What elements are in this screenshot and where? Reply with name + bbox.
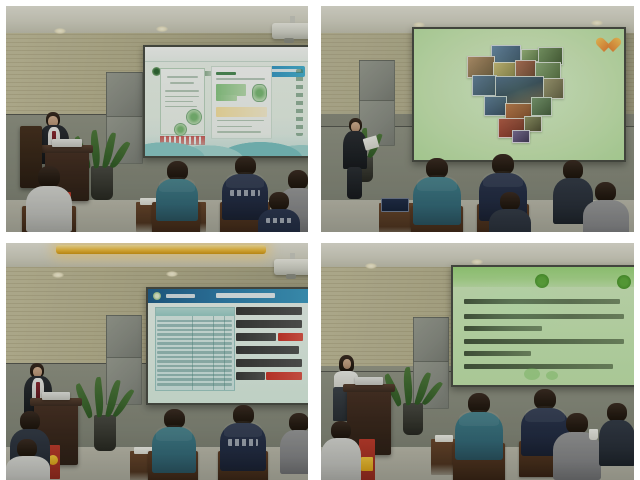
hoodie-hood: [156, 425, 193, 441]
text-line: [236, 307, 302, 315]
slide-vertical-text: [296, 69, 303, 137]
table-row: [157, 378, 232, 381]
university-crest-icon: [153, 292, 161, 300]
audience-member: [6, 439, 50, 480]
audience-member: [152, 409, 196, 471]
presenter-face: [343, 359, 351, 369]
hoodie-hood: [417, 175, 457, 191]
collage-photo: [543, 78, 565, 99]
collage-photo: [484, 96, 507, 115]
laptop: [52, 139, 82, 147]
projection-screen: [451, 265, 634, 387]
audience-body: [6, 456, 50, 480]
slide-certificate: [145, 47, 308, 156]
table-row: [157, 320, 232, 323]
plant-pot: [94, 415, 116, 451]
quote-badge-icon: [535, 274, 549, 288]
text-line: [236, 372, 265, 380]
wall-grey-panel: [106, 72, 143, 118]
audience-head: [288, 170, 308, 190]
certificate-right-card: [211, 66, 272, 140]
audience-member: [26, 166, 72, 228]
collage-photo: [531, 97, 552, 115]
audience-member: [258, 192, 300, 232]
slide-decor-dot: [546, 371, 558, 380]
slide-body-text: [236, 305, 308, 392]
audience-head: [20, 411, 40, 431]
plant-pot: [403, 403, 423, 435]
audience-member: [413, 158, 461, 222]
projector-icon: [274, 259, 308, 275]
cup: [589, 429, 598, 440]
floor-banner-badge: [361, 457, 373, 471]
projector-icon: [272, 23, 308, 39]
audience-member: [583, 182, 629, 232]
text-line: [236, 346, 299, 354]
audience-body: [599, 420, 634, 466]
photo-panel-bottom-right[interactable]: Female student at podium, green slide li…: [321, 243, 634, 480]
slide-bullet-line: [464, 326, 542, 331]
table-row: [157, 351, 232, 354]
room-scene: [6, 6, 308, 232]
text-line-highlight: [266, 372, 302, 380]
heart-icon: [600, 36, 618, 54]
laptop: [42, 392, 70, 400]
table-row: [157, 360, 232, 363]
audience-member: [280, 413, 308, 473]
audience-body: [413, 177, 461, 225]
photo-panel-bottom-left[interactable]: Male student at podium, slide with grade…: [6, 243, 308, 480]
audience-body: [26, 186, 72, 232]
audience-body: [280, 430, 308, 474]
audience-body: [455, 412, 503, 460]
presenter-legs: [347, 167, 362, 199]
audience-member: [321, 421, 361, 480]
plant-pot: [91, 166, 113, 200]
laptop: [355, 377, 383, 385]
audience-head: [566, 413, 588, 434]
projection-screen: [143, 45, 308, 158]
audience-member: [599, 403, 634, 465]
slide-university-name: [166, 294, 195, 298]
audience-member: [553, 413, 601, 479]
ceiling-downlight: [591, 20, 603, 26]
hoodie-hood: [224, 421, 263, 437]
room-scene: [6, 243, 308, 480]
presenter-top-right: [343, 118, 367, 198]
presenter-body: [343, 131, 367, 169]
portrait-placeholder-icon: [252, 84, 267, 102]
audience-member: [489, 192, 531, 232]
audience-body: [156, 179, 198, 221]
hoodie-hood: [159, 177, 194, 191]
ceiling-downlight: [166, 271, 178, 277]
hoodie-back-print: [228, 439, 257, 446]
nameplate: [381, 198, 409, 212]
table-row: [157, 374, 232, 377]
audience-member: [220, 405, 266, 469]
room-scene: [321, 243, 634, 480]
table-row: [157, 347, 232, 350]
room-scene: [321, 6, 634, 232]
collage-photo: [515, 60, 536, 77]
text-line: [236, 333, 276, 341]
slide-bullet-line: [464, 314, 624, 319]
table-row: [157, 356, 232, 359]
slide-bullet-line: [464, 339, 624, 344]
certificate-left-card: [160, 68, 205, 135]
certificate-seal-icon: [186, 109, 202, 125]
hoodie-hood: [226, 172, 265, 188]
hoodie-hood: [483, 171, 523, 187]
slide-title: [216, 293, 275, 298]
text-line-highlight: [278, 333, 304, 341]
hoodie-back-print: [266, 218, 293, 223]
table-row: [157, 365, 232, 368]
text-line: [236, 359, 302, 367]
slide-research-list: [453, 267, 634, 385]
photo-panel-top-left[interactable]: Male student presenting at podium, certi…: [6, 6, 308, 232]
audience-body: [258, 209, 300, 232]
collage-photo: [472, 75, 498, 96]
slide-bullet-line: [464, 364, 613, 369]
table-row: [157, 383, 232, 386]
slide-decor-dot: [524, 368, 540, 380]
audience-member: [156, 161, 198, 219]
audience-body: [583, 200, 629, 232]
slide-wave-decoration: [145, 134, 308, 156]
table-row: [157, 338, 232, 341]
collage-photo: [512, 130, 530, 143]
projection-screen: [412, 27, 626, 162]
photo-panel-top-right[interactable]: Female student presenting, green slide w…: [321, 6, 634, 232]
audience-head: [563, 160, 583, 180]
audience-member: [455, 393, 503, 457]
table-row: [157, 333, 232, 336]
table-row: [157, 342, 232, 345]
audience-body: [321, 438, 361, 480]
audience-body: [220, 423, 266, 471]
audience-head: [38, 166, 60, 188]
text-line: [236, 320, 302, 328]
table-header-row: [156, 308, 234, 315]
hoodie-back-print: [230, 190, 259, 196]
ceiling-downlight: [365, 263, 377, 269]
ceiling-downlight: [54, 28, 66, 34]
hoodie-hood: [459, 410, 499, 426]
photo-grid: Male student presenting at podium, certi…: [0, 0, 640, 480]
slide-grades: [148, 289, 308, 403]
audience-body: [152, 427, 196, 473]
ceiling-light-strip: [56, 245, 266, 254]
wall-grey-panel: [359, 60, 395, 102]
slide-heart-collage: [414, 29, 624, 160]
projection-screen: [146, 287, 308, 405]
slide-intro-line: [464, 299, 620, 304]
audience-body: [489, 209, 531, 232]
heart-photo-collage: [460, 45, 578, 142]
audience-head: [595, 182, 616, 202]
table-row: [157, 329, 232, 332]
podium-top: [343, 384, 395, 392]
slide-header-bar: [145, 47, 308, 62]
paper: [435, 435, 453, 442]
table-row: [157, 324, 232, 327]
wall-grey-panel: [413, 317, 449, 363]
ceiling-downlight: [156, 26, 168, 32]
table-row: [157, 369, 232, 372]
grades-table: [155, 307, 235, 391]
slide-bullet-line: [464, 351, 531, 356]
presenter-tie: [36, 382, 39, 399]
quote-badge-icon: [617, 275, 631, 289]
ceiling-downlight: [52, 272, 64, 278]
wall-grey-panel: [106, 315, 142, 359]
